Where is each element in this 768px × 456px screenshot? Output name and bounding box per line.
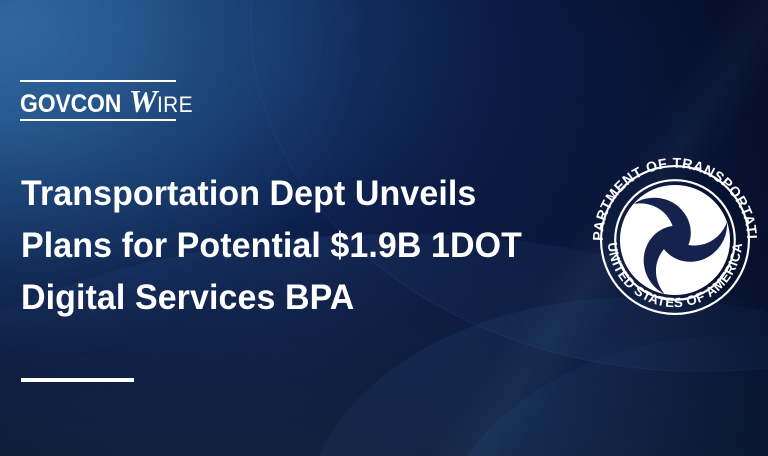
dot-seal-icon: DEPARTMENT OF TRANSPORTATION UNITED STAT… bbox=[589, 154, 761, 326]
brand-wordmark: GOVCON W IRE bbox=[20, 82, 176, 119]
brand-rule-bottom bbox=[20, 119, 176, 121]
article-hero-card: GOVCON W IRE Transportation Dept Unveils… bbox=[0, 0, 768, 456]
brand-logo[interactable]: GOVCON W IRE bbox=[20, 80, 176, 121]
brand-wordmark-w: W bbox=[129, 85, 157, 117]
brand-wordmark-govcon: GOVCON bbox=[20, 92, 121, 117]
headline: Transportation Dept Unveils Plans for Po… bbox=[21, 168, 491, 324]
accent-divider bbox=[21, 378, 134, 382]
headline-line-3: Digital Services BPA bbox=[21, 272, 477, 324]
headline-line-1: Transportation Dept Unveils bbox=[21, 168, 477, 220]
headline-line-2: Plans for Potential $1.9B 1DOT bbox=[21, 220, 477, 272]
brand-wordmark-ire: IRE bbox=[157, 94, 193, 116]
